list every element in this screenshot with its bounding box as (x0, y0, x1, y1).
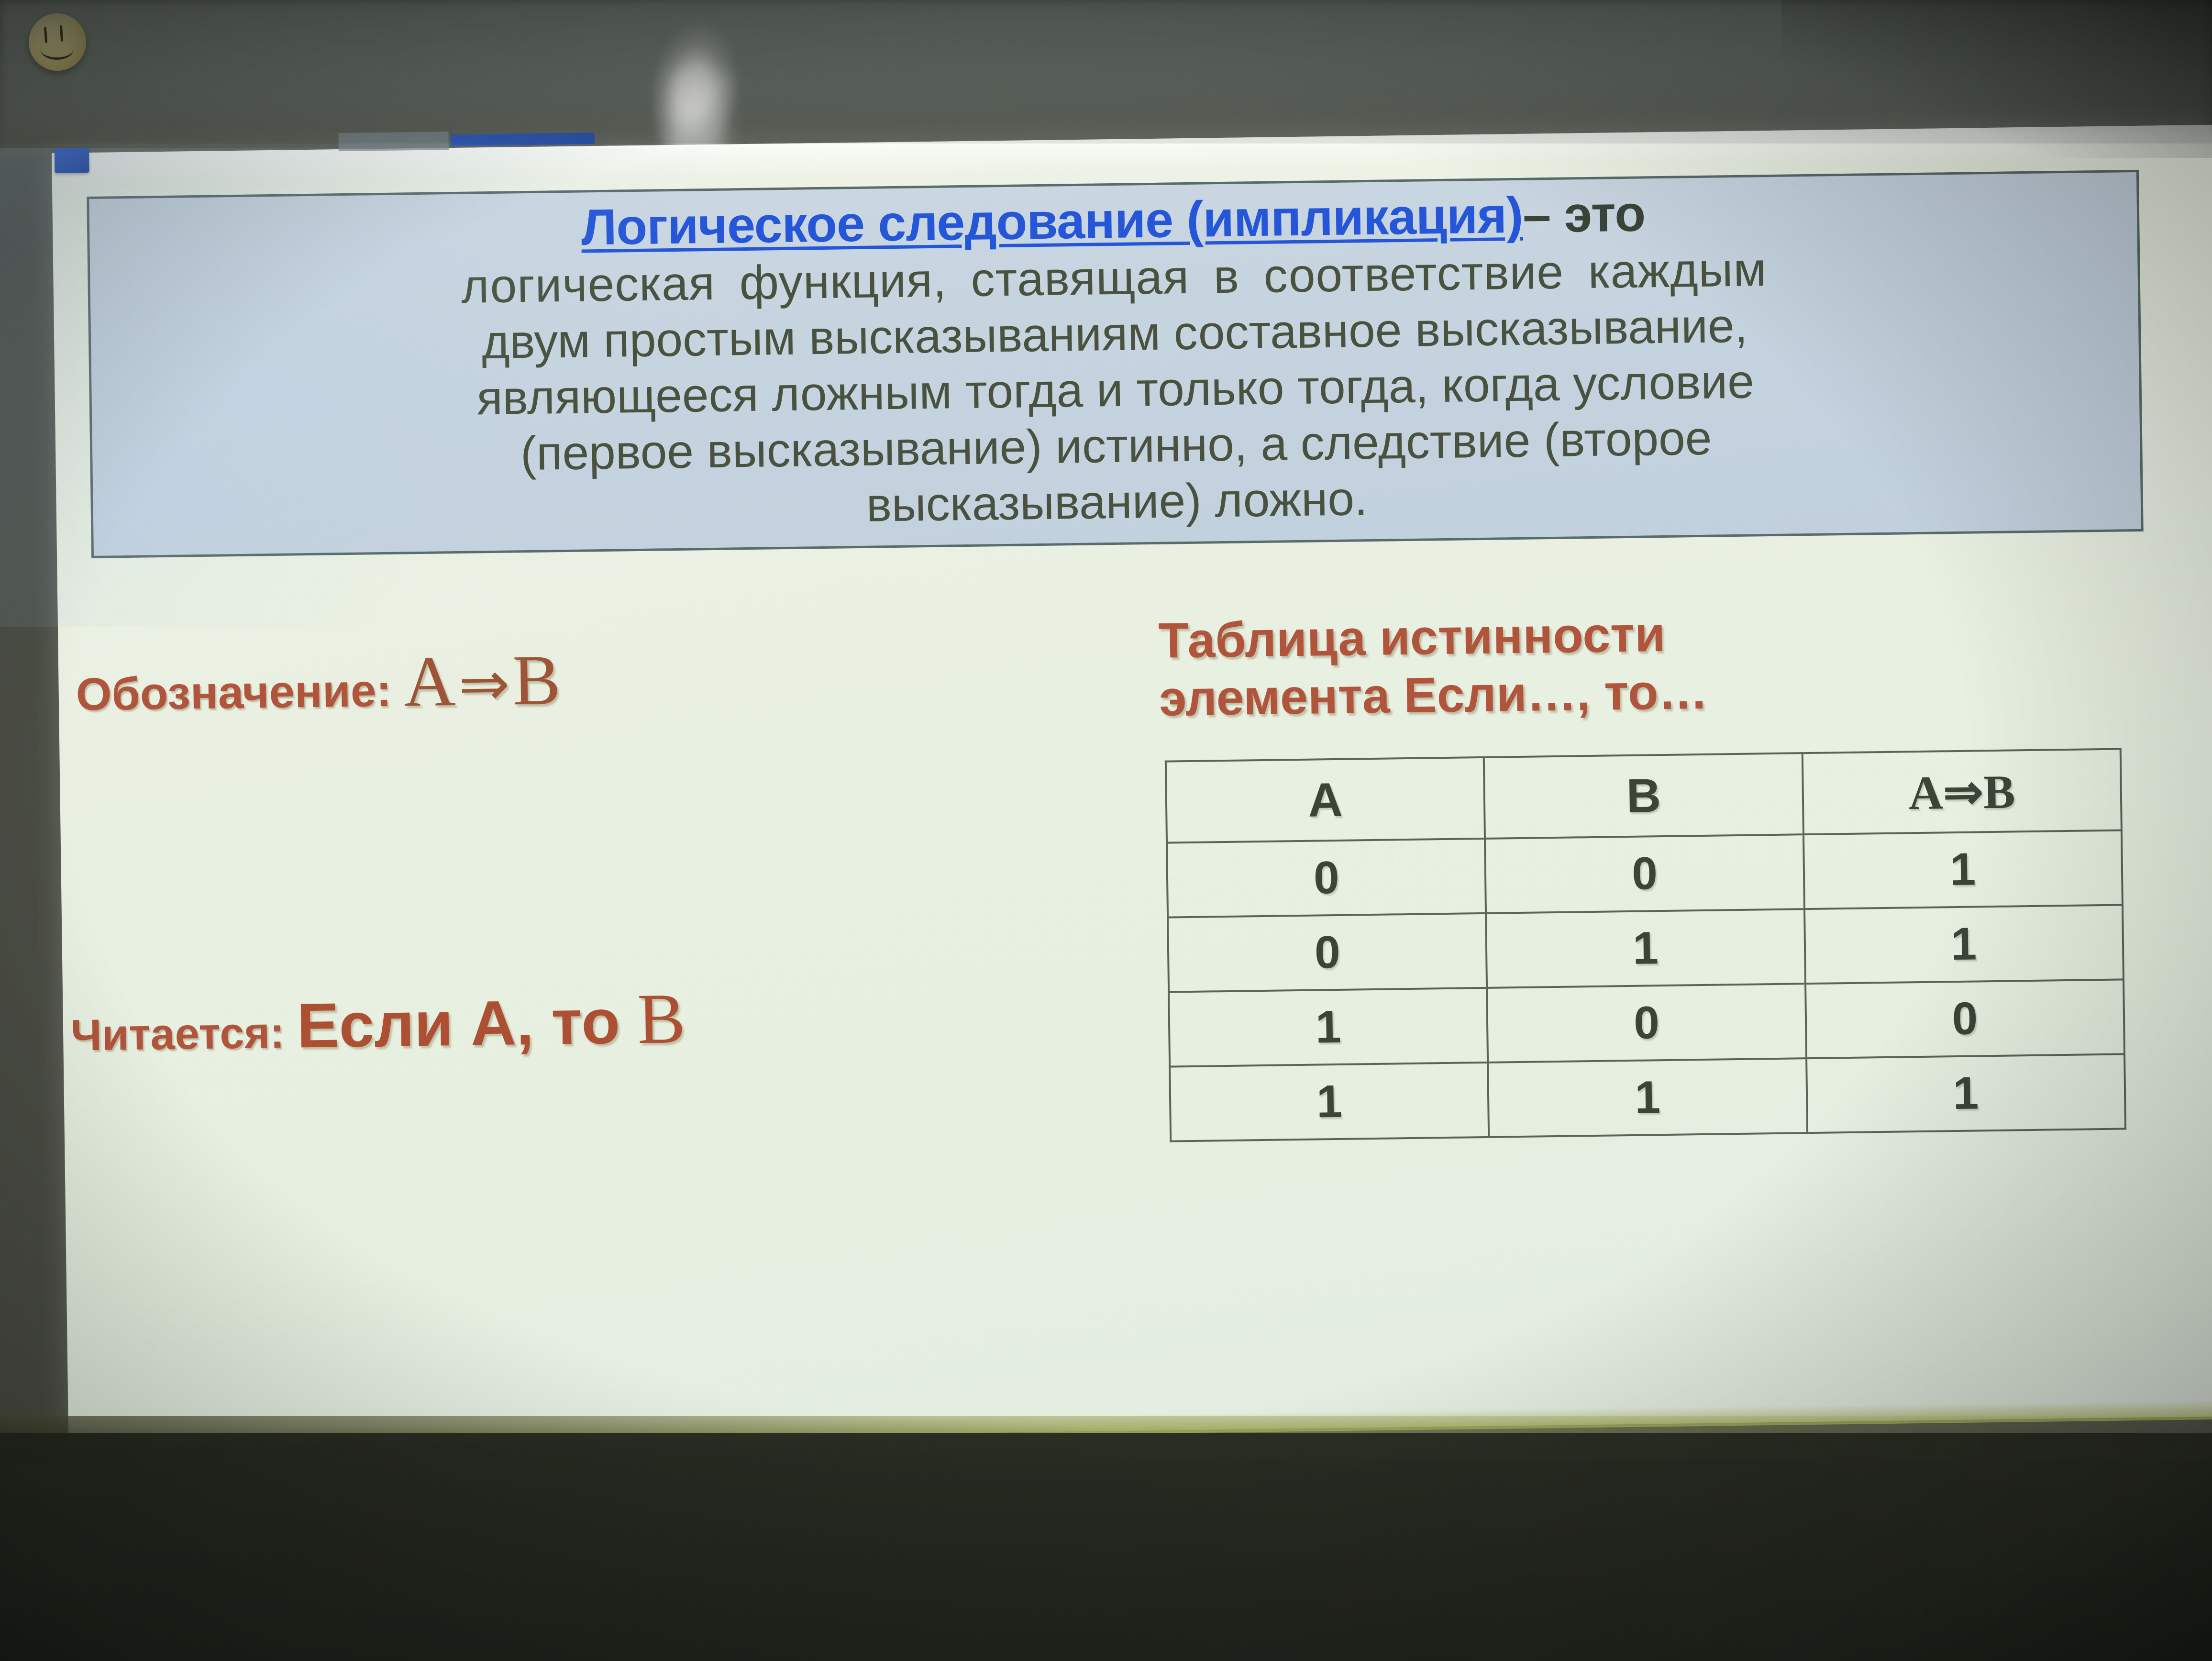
truth-table-header-a: A (1166, 757, 1485, 843)
notation-formula: A⇒B (403, 644, 561, 718)
truth-table-wrapper: A B A⇒B 0 0 1 0 1 1 1 0 0 (1165, 748, 2126, 1142)
blue-marker-magnet-secondary (451, 133, 595, 146)
reading-row: Читается: Если A, то B (70, 977, 686, 1068)
cell-b: 1 (1486, 909, 1805, 988)
reading-value-suffix: B (637, 979, 686, 1059)
truth-table-header-b: B (1484, 753, 1803, 839)
cell-a: 1 (1169, 988, 1488, 1067)
notation-row: Обозначение: A⇒B (76, 644, 561, 722)
cell-b: 0 (1487, 984, 1806, 1063)
cell-b: 0 (1485, 834, 1804, 913)
smiley-mouth (40, 38, 74, 60)
cell-a: 0 (1168, 913, 1487, 992)
board-grey-tab (339, 132, 449, 151)
cell-result: 1 (1804, 905, 2124, 984)
truth-table-header-implication: A⇒B (1802, 749, 2122, 834)
table-row: 1 1 1 (1170, 1054, 2125, 1141)
notation-operand-b: B (512, 640, 561, 720)
cell-a: 1 (1170, 1063, 1489, 1141)
projected-slide: Логическое следование (импликация)– это … (52, 125, 2212, 1445)
projection-scene: Логическое следование (импликация)– это … (0, 0, 2212, 1661)
table-row: 0 0 1 (1167, 830, 2123, 917)
notation-label: Обозначение: (76, 664, 392, 721)
reading-value: Если A, то B (296, 977, 686, 1065)
table-row: 0 1 1 (1168, 905, 2124, 992)
definition-box: Логическое следование (импликация)– это … (87, 170, 2144, 558)
reading-value-prefix: Если A, то (297, 986, 638, 1061)
definition-title-tail: – это (1522, 185, 1645, 243)
cell-result: 0 (1805, 979, 2124, 1058)
truth-table-heading: Таблица истинности элемента Если…, то… (1158, 599, 2145, 728)
cell-a: 0 (1167, 839, 1486, 918)
blue-marker-magnet (55, 148, 89, 173)
table-row: 1 0 0 (1169, 979, 2124, 1066)
smiley-face-magnet (29, 13, 86, 71)
truth-table: A B A⇒B 0 0 1 0 1 1 1 0 0 (1165, 748, 2126, 1142)
reading-label: Читается: (70, 1008, 285, 1061)
cell-b: 1 (1488, 1058, 1807, 1137)
notation-operand-a: A (403, 642, 456, 721)
definition-body: логическая функция, ставящая в соответст… (102, 237, 2128, 543)
definition-keyword: Логическое следование (импликация) (581, 187, 1523, 256)
cell-result: 1 (1803, 830, 2123, 909)
cell-result: 1 (1806, 1054, 2125, 1133)
truth-table-header-row: A B A⇒B (1166, 749, 2122, 842)
implication-arrow-icon: ⇒ (455, 650, 513, 719)
